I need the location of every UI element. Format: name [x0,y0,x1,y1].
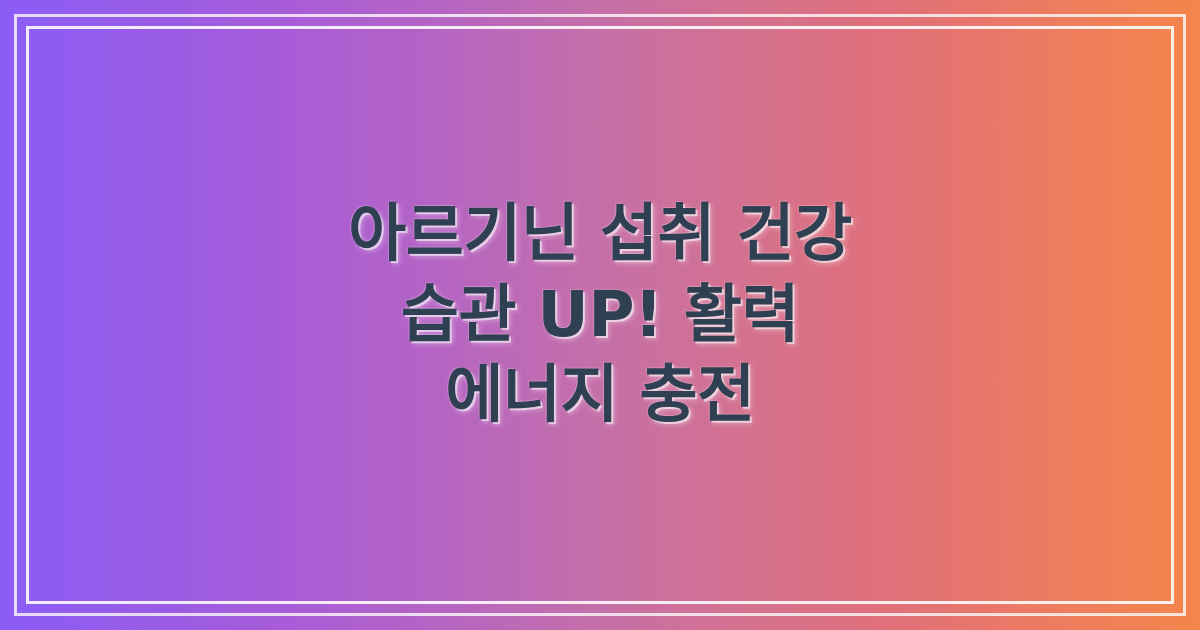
page-title: 아르기닌 섭취 건강 습관 UP! 활력 에너지 충전 [300,194,900,436]
headline-line-2: 습관 UP! 활력 [300,275,900,356]
banner-card: 아르기닌 섭취 건강 습관 UP! 활력 에너지 충전 [0,0,1200,630]
headline-line-3: 에너지 충전 [300,355,900,436]
headline-line-1: 아르기닌 섭취 건강 [300,194,900,275]
headline-container: 아르기닌 섭취 건강 습관 UP! 활력 에너지 충전 [280,194,920,436]
